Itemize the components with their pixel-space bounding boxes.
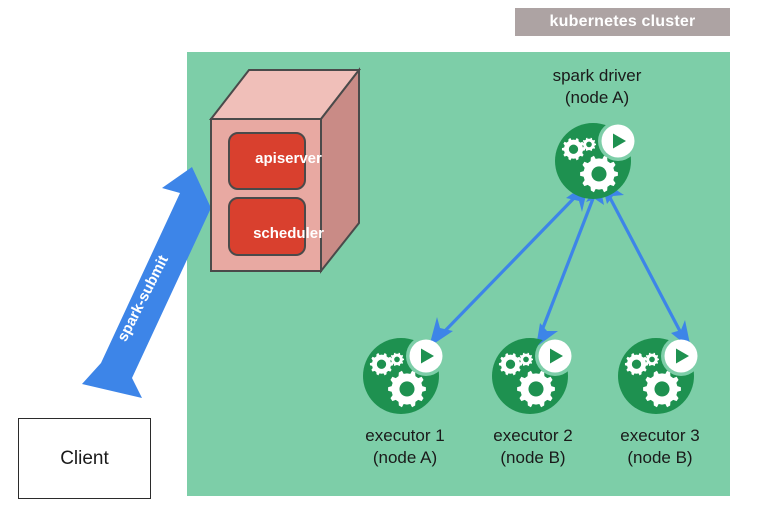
executor-3-caption-name: executor 3 bbox=[570, 425, 750, 447]
kubernetes-cluster-badge-label: kubernetes cluster bbox=[550, 13, 696, 31]
spark-submit-arrow-label: spark-submit bbox=[108, 241, 178, 356]
spark-driver-play-icon bbox=[602, 125, 635, 158]
control-plane-box: apiserver scheduler bbox=[205, 62, 365, 277]
scheduler-component-shape bbox=[229, 198, 305, 255]
client-box-label: Client bbox=[60, 448, 109, 470]
executor-3-play-icon bbox=[665, 340, 698, 373]
spark-driver-caption: spark driver (node A) bbox=[507, 65, 687, 109]
spark-driver-caption-node: (node A) bbox=[507, 87, 687, 109]
diagram-canvas: kubernetes cluster Client spark-subm bbox=[0, 0, 761, 516]
kubernetes-cluster-badge: kubernetes cluster bbox=[515, 8, 730, 36]
executor-3-icon bbox=[614, 328, 706, 418]
spark-driver-icon bbox=[551, 113, 643, 203]
apiserver-component-shape bbox=[229, 133, 305, 189]
executor-1-play-icon bbox=[410, 340, 443, 373]
executor-3-caption-node: (node B) bbox=[570, 447, 750, 469]
spark-driver-caption-name: spark driver bbox=[507, 65, 687, 87]
executor-2-icon bbox=[488, 328, 580, 418]
executor-3-caption: executor 3 (node B) bbox=[570, 425, 750, 469]
executor-1-icon bbox=[359, 328, 451, 418]
client-box: Client bbox=[18, 418, 151, 499]
executor-2-play-icon bbox=[539, 340, 572, 373]
